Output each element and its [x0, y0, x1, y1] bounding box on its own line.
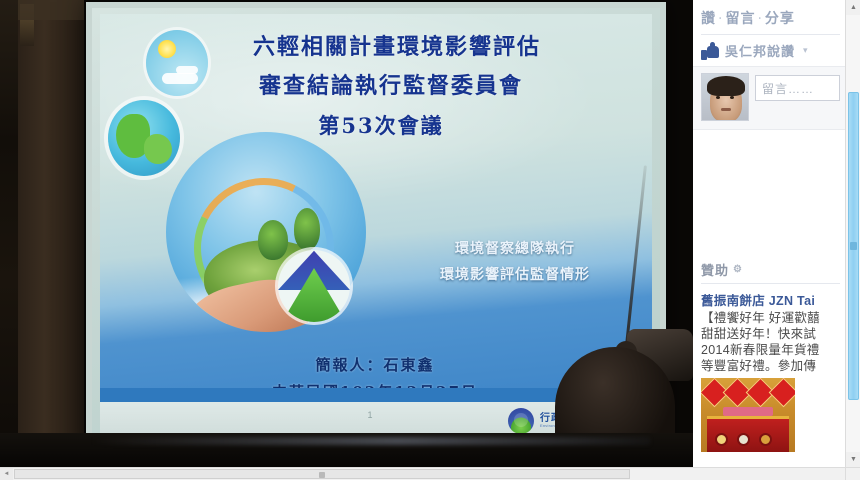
comment-action[interactable]: 留言: [725, 11, 755, 27]
ad-goodie-2: [737, 433, 750, 446]
liked-by-row: 吳仁邦說讚 ▾: [701, 34, 840, 62]
slide-title: 六輕相關計畫環境影響評估 審查結論執行監督委員會 第53次會議: [100, 28, 652, 146]
room-left-edge: [0, 0, 18, 467]
slide-subtitle-line-2: 環境影響評估監督情形: [400, 262, 630, 288]
room-foreground-object: [18, 0, 84, 460]
horizontal-scrollbar[interactable]: ◄ ►: [0, 467, 860, 480]
slide-title-line-1: 六輕相關計畫環境影響評估: [100, 28, 652, 66]
thumbs-up-icon: [701, 42, 719, 60]
comment-input-placeholder: 留言……: [762, 80, 814, 97]
ad-box-label: [723, 407, 773, 416]
ad-body-line-1: 【禮饗好年 好運歡囍: [701, 310, 840, 326]
room-bottom-shadow: [0, 433, 693, 467]
chevron-down-icon[interactable]: ▾: [803, 45, 808, 56]
ad-title-link[interactable]: 舊振南餅店 JZN Tai: [701, 290, 840, 309]
epa-logo-icon: [508, 408, 534, 434]
photo-actions-row: 讚·留言·分享: [693, 0, 846, 32]
vertical-scrollbar-thumb[interactable]: [848, 92, 859, 400]
scroll-down-arrow-icon[interactable]: ▼: [846, 452, 860, 467]
avatar-eye-left: [716, 96, 720, 99]
sponsored-heading: 贊助 ⚙: [701, 260, 840, 284]
share-action[interactable]: 分享: [765, 11, 795, 27]
slide-title-line-3: 第53次會議: [100, 106, 652, 146]
horizontal-scrollbar-thumb[interactable]: [14, 469, 630, 479]
comment-composer-row: 留言……: [693, 66, 846, 130]
like-action[interactable]: 讚: [701, 11, 716, 27]
scrollbar-corner: [845, 467, 860, 480]
scrollbar-grip: [850, 242, 857, 250]
ad-goodie-1: [715, 433, 728, 446]
scrollbar-grip-h: [319, 472, 325, 478]
slide-subtitle: 環境督察總隊執行 環境影響評估監督情形: [400, 236, 630, 288]
scroll-left-arrow-icon[interactable]: ◄: [0, 468, 13, 480]
avatar-hair: [707, 76, 745, 96]
mountain-logo-icon: [278, 250, 350, 322]
ad-body-text: 【禮饗好年 好運歡囍 甜甜送好年！快來試 2014新春限量年貨禮 等豐富好禮。參…: [701, 310, 840, 374]
comment-input[interactable]: 留言……: [755, 75, 840, 101]
vertical-scrollbar[interactable]: ▲ ▼: [845, 0, 860, 467]
sponsored-section: 贊助 ⚙ 舊振南餅店 JZN Tai 【禮饗好年 好運歡囍 甜甜送好年！快來試 …: [693, 260, 846, 452]
ad-goodie-3: [759, 433, 772, 446]
scroll-up-arrow-icon[interactable]: ▲: [846, 0, 860, 15]
gear-icon[interactable]: ⚙: [733, 264, 743, 275]
sponsored-label: 贊助: [701, 260, 729, 279]
photo-viewer-page: 六輕相關計畫環境影響評估 審查結論執行監督委員會 第53次會議 環境督察總隊執行…: [0, 0, 860, 480]
avatar-mouth: [721, 108, 731, 111]
photo-pane[interactable]: 六輕相關計畫環境影響評估 審查結論執行監督委員會 第53次會議 環境督察總隊執行…: [0, 0, 693, 467]
action-separator-2: ·: [755, 11, 764, 27]
liked-by-text[interactable]: 吳仁邦說讚: [725, 41, 795, 60]
room-sheen: [90, 437, 650, 445]
tree-icon: [258, 220, 288, 260]
slide-page-number: 1: [355, 410, 385, 420]
tree-icon-2: [294, 208, 320, 250]
slide-title-line-2: 審查結論執行監督委員會: [100, 66, 652, 106]
ad-body-line-3: 2014新春限量年貨禮: [701, 342, 840, 358]
ad-body-line-2: 甜甜送好年！快來試: [701, 326, 840, 342]
ad-image[interactable]: [701, 378, 795, 452]
ad-decoration-diamond-4: [769, 378, 795, 407]
photo-sidebar: 讚·留言·分享 吳仁邦說讚 ▾ 留言……: [693, 0, 846, 467]
thumbs-up-thumb: [710, 42, 715, 49]
avatar-eye-right: [730, 96, 734, 99]
slide-subtitle-line-1: 環境督察總隊執行: [400, 236, 630, 262]
avatar[interactable]: [701, 73, 749, 121]
room-glint: [20, 4, 34, 46]
ad-body-line-4: 等豐富好禮。參加傳: [701, 358, 840, 374]
slide-presenter-name: 簡報人：石東鑫: [230, 352, 520, 379]
